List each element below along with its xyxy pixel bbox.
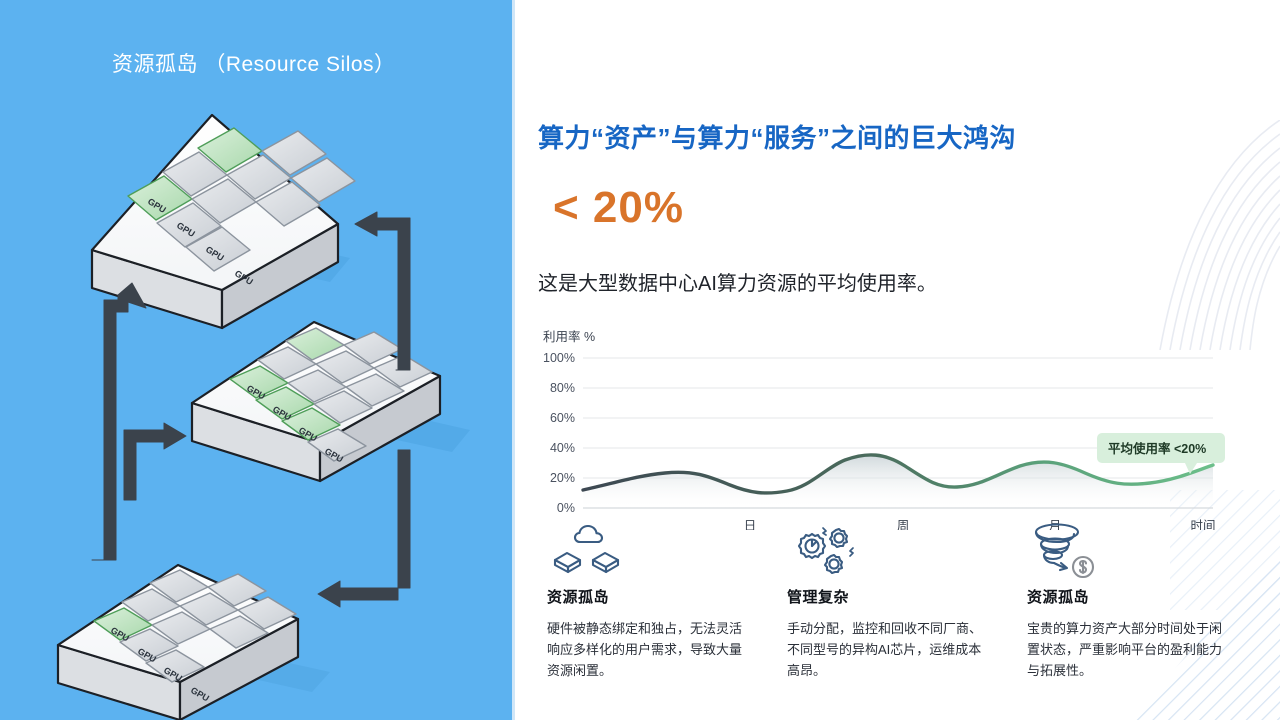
card-title: 资源孤岛 [547, 586, 761, 607]
chart-y-axis-label: 利用率 % [543, 329, 595, 344]
svg-text:80%: 80% [550, 381, 575, 395]
svg-text:100%: 100% [543, 351, 575, 365]
card-title: 管理复杂 [787, 586, 1001, 607]
svg-text:60%: 60% [550, 411, 575, 425]
isometric-gpu-silos-illustration: GPU GPU GPU GPU [0, 0, 512, 720]
tray-middle: GPU GPU GPU GPU [192, 322, 470, 481]
card-description: 硬件被静态绑定和独占，无法灵活响应多样化的用户需求，导致大量资源闲置。 [547, 618, 747, 681]
tornado-coin-icon [1027, 520, 1105, 582]
card-title: 资源孤岛 [1027, 586, 1241, 607]
svg-text:20%: 20% [550, 471, 575, 485]
utilization-area-chart: 利用率 % 100% 80% 60% 40% 20% 0% 日 周 [525, 325, 1225, 530]
right-content-panel: 算力“资产”与算力“服务”之间的巨大鸿沟 < 20% 这是大型数据中心AI算力资… [515, 0, 1280, 720]
feature-card-idle-assets: 资源孤岛 宝贵的算力资产大部分时间处于闲置状态，严重影响平台的盈利能力与拓展性。 [1027, 520, 1267, 715]
subtitle-text: 这是大型数据中心AI算力资源的平均使用率。 [538, 267, 937, 296]
svg-text:40%: 40% [550, 441, 575, 455]
card-description: 手动分配，监控和回收不同厂商、不同型号的异构AI芯片，运维成本高昂。 [787, 618, 987, 681]
decorative-arc-lines [1100, 120, 1280, 350]
feature-card-management-complexity: 管理复杂 手动分配，监控和回收不同厂商、不同型号的异构AI芯片，运维成本高昂。 [787, 520, 1027, 715]
tray-bottom: GPU GPU GPU GPU [58, 565, 330, 720]
left-illustration-panel: 资源孤岛 （Resource Silos） [0, 0, 512, 720]
svg-text:平均使用率 <20%: 平均使用率 <20% [1108, 441, 1206, 456]
big-statistic: < 20% [553, 183, 684, 233]
feature-card-resource-silos: 资源孤岛 硬件被静态绑定和独占，无法灵活响应多样化的用户需求，导致大量资源闲置。 [547, 520, 787, 715]
feature-cards-row: 资源孤岛 硬件被静态绑定和独占，无法灵活响应多样化的用户需求，导致大量资源闲置。 [547, 520, 1267, 715]
page-headline: 算力“资产”与算力“服务”之间的巨大鸿沟 [538, 118, 1016, 155]
gears-icon [787, 520, 865, 582]
cloud-boxes-icon [547, 520, 625, 582]
svg-text:0%: 0% [557, 501, 575, 515]
chart-y-ticks: 100% 80% 60% 40% 20% 0% [543, 351, 575, 515]
card-description: 宝贵的算力资产大部分时间处于闲置状态，严重影响平台的盈利能力与拓展性。 [1027, 618, 1227, 681]
